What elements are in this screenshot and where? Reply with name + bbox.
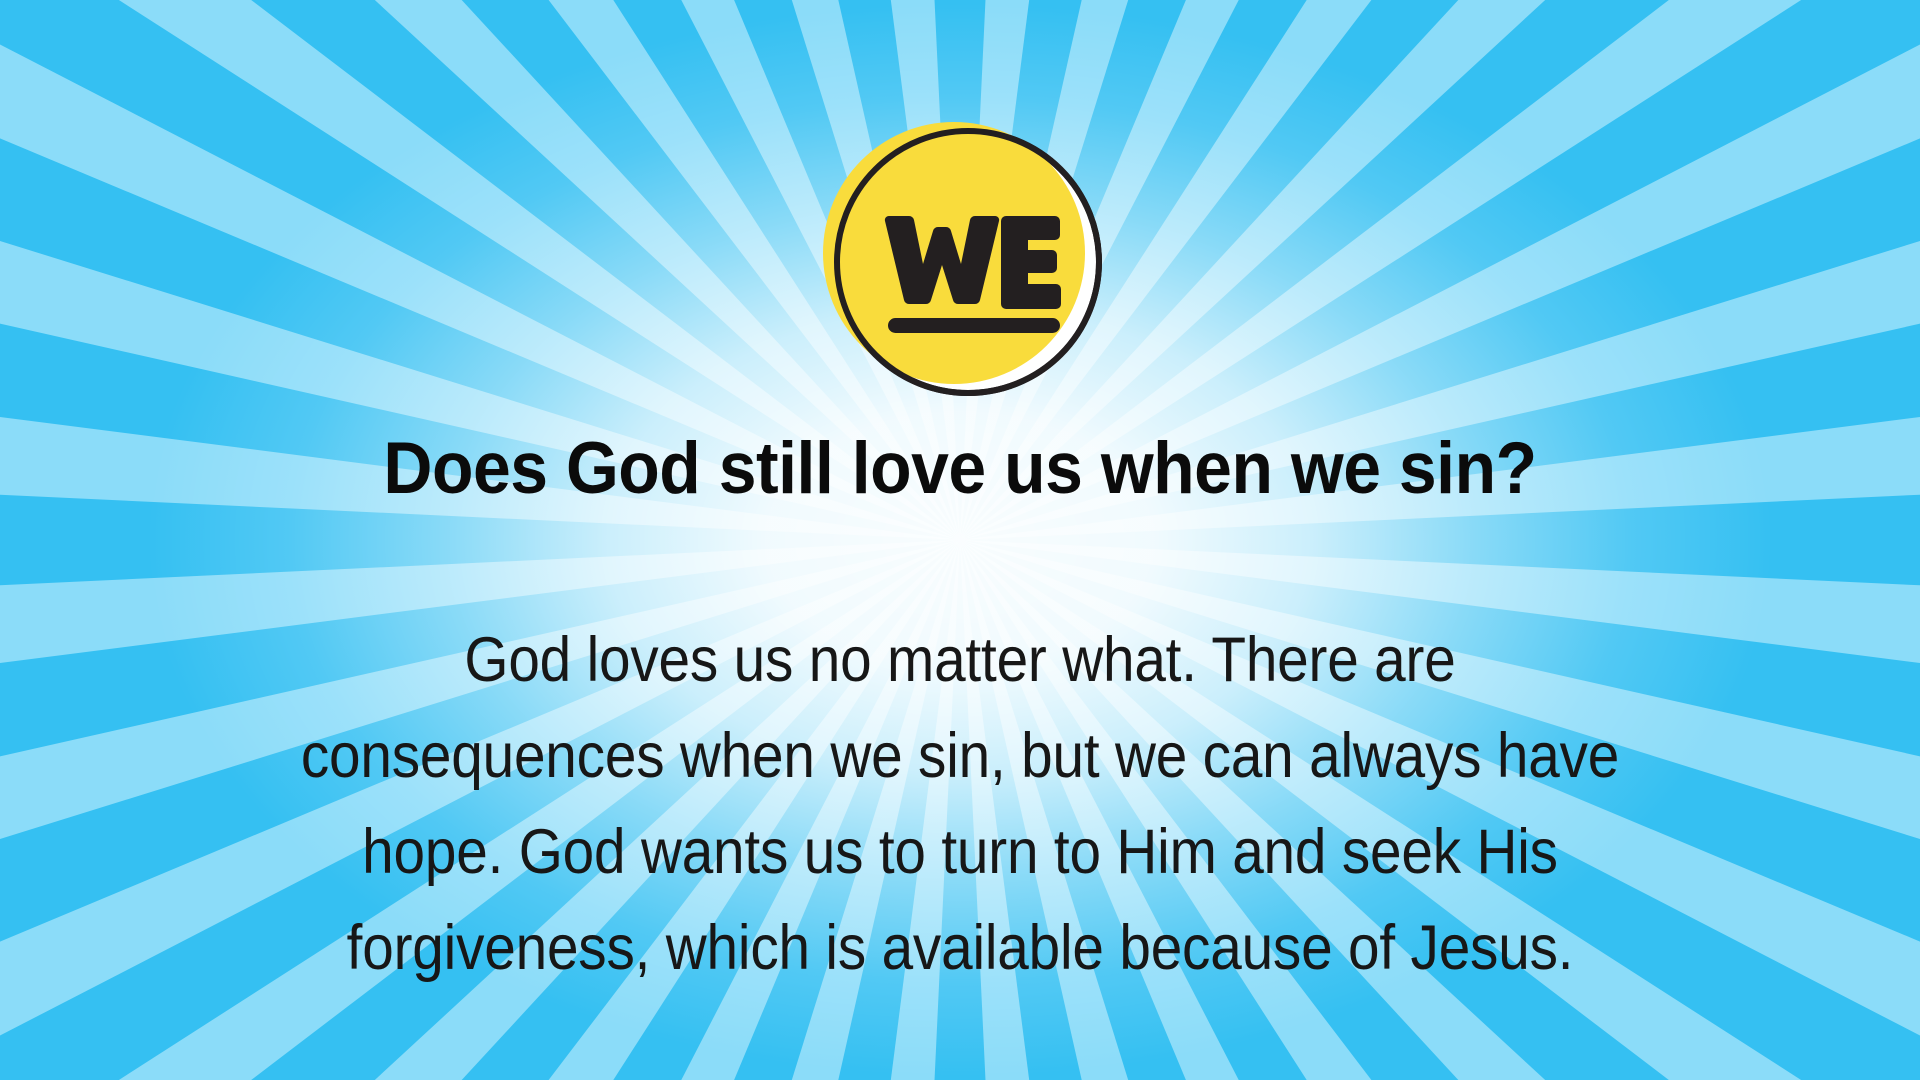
body-line: consequences when we sin, but we can alw… [195,709,1725,805]
body-line: forgiveness, which is available because … [195,901,1725,997]
body-line: hope. God wants us to turn to Him and se… [195,805,1725,901]
logo-underline-bar [888,318,1060,333]
logo-letter-e [1001,216,1061,309]
body-copy: God loves us no matter what. There are c… [195,613,1725,996]
we-circle-logo [810,112,1110,402]
page-title: Does God still love us when we sin? [235,432,1686,506]
poster-content: Does God still love us when we sin? God … [0,0,1920,1080]
body-line: God loves us no matter what. There are [195,613,1725,709]
we-logo [810,112,1110,402]
poster-canvas: Does God still love us when we sin? God … [0,0,1920,1080]
